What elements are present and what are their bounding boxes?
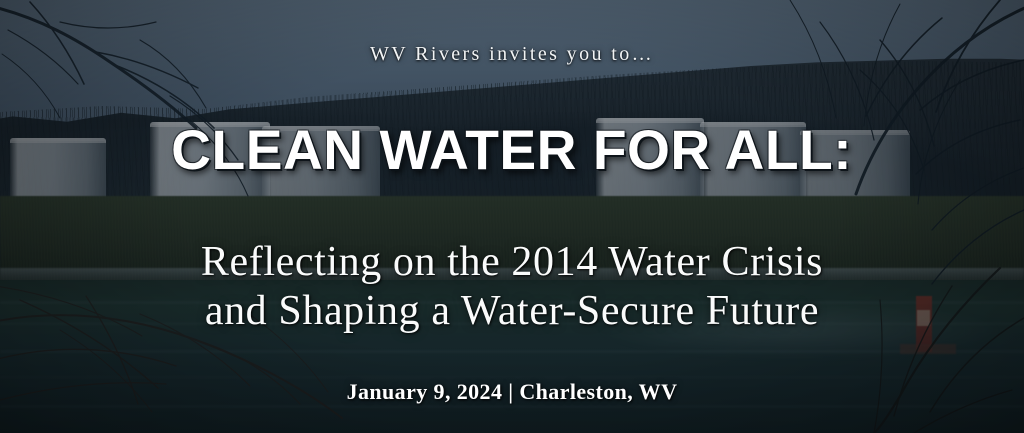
event-subtitle: Reflecting on the 2014 Water Crisis and … — [201, 238, 823, 337]
subtitle-line-1: Reflecting on the 2014 Water Crisis — [201, 238, 823, 288]
event-dateline: January 9, 2024 | Charleston, WV — [347, 381, 678, 403]
banner-content: WV Rivers invites you to… CLEAN WATER FO… — [0, 0, 1024, 433]
invitation-eyebrow: WV Rivers invites you to… — [370, 44, 654, 64]
event-promo-banner: WV Rivers invites you to… CLEAN WATER FO… — [0, 0, 1024, 433]
subtitle-line-2: and Shaping a Water-Secure Future — [201, 287, 823, 337]
event-headline: CLEAN WATER FOR ALL: — [172, 122, 853, 178]
